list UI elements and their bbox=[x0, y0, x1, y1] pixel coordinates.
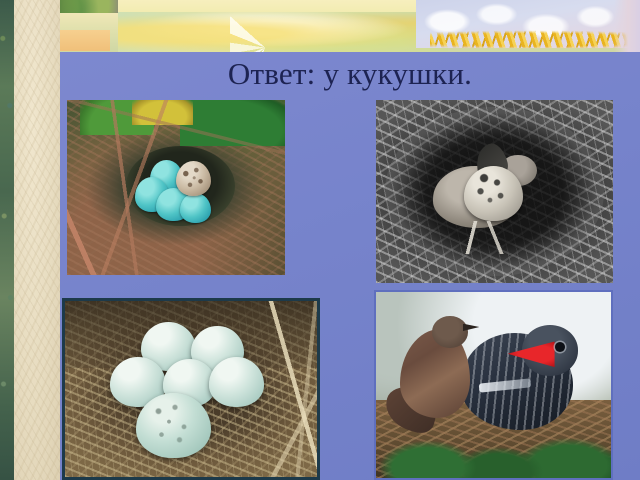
photo-2-content bbox=[376, 100, 613, 283]
photo-six-pale-blue-eggs[interactable] bbox=[62, 298, 320, 480]
photo-1-content bbox=[67, 100, 285, 275]
presentation-slide: Ответ: у кукушки. bbox=[0, 0, 640, 480]
band-right-fade bbox=[614, 0, 640, 52]
photo-nest-with-cuckoo-egg[interactable] bbox=[67, 100, 285, 275]
band-gold-wheat-streak bbox=[430, 30, 635, 48]
photo-3-content bbox=[65, 301, 317, 477]
photo-cuckoo-chick-ejecting-egg[interactable] bbox=[376, 100, 613, 283]
green-leaves-foreground bbox=[376, 430, 611, 478]
photo-host-bird-feeding-cuckoo-chick[interactable] bbox=[374, 290, 613, 480]
straw-strands bbox=[65, 301, 317, 477]
band-autumn-leaves-art bbox=[118, 12, 448, 52]
left-edge-strip bbox=[0, 0, 14, 480]
photo-4-content bbox=[376, 292, 611, 478]
ejected-egg bbox=[464, 166, 523, 221]
pine-needles-twigs bbox=[67, 100, 285, 275]
host-bird-head bbox=[432, 316, 467, 348]
cuckoo-chick-legs bbox=[447, 221, 528, 254]
page-title: Ответ: у кукушки. bbox=[60, 52, 640, 96]
left-parchment-strip bbox=[14, 0, 60, 480]
decorative-top-band bbox=[0, 0, 640, 52]
title-text: Ответ: у кукушки. bbox=[228, 58, 472, 91]
